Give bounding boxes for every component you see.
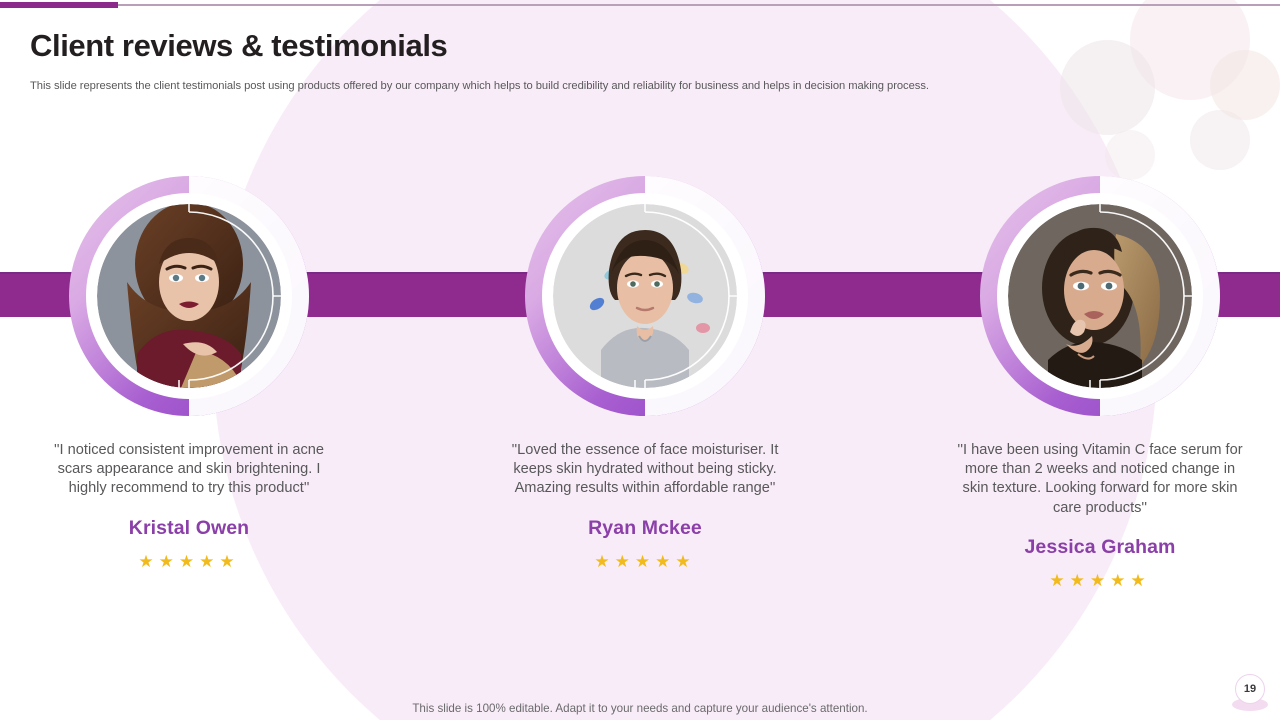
star-icon: ★ xyxy=(1110,572,1130,589)
star-icon: ★ xyxy=(1090,572,1110,589)
footer-note: This slide is 100% editable. Adapt it to… xyxy=(0,702,1280,715)
star-icon: ★ xyxy=(1049,572,1069,589)
star-icon: ★ xyxy=(1070,572,1090,589)
star-icon: ★ xyxy=(219,553,239,570)
avatar-photo xyxy=(1008,204,1192,388)
star-icon: ★ xyxy=(199,553,219,570)
testimonial-card[interactable]: ''I noticed consistent improvement in ac… xyxy=(39,176,339,570)
testimonial-author-name: Kristal Owen xyxy=(39,517,339,540)
page-number-label: 19 xyxy=(1235,674,1265,704)
star-icon: ★ xyxy=(675,553,695,570)
star-icon: ★ xyxy=(635,553,655,570)
page-number-badge: 19 xyxy=(1232,674,1268,714)
avatar-photo xyxy=(553,204,737,388)
star-icon: ★ xyxy=(138,553,158,570)
avatar xyxy=(525,176,765,416)
testimonial-author-name: Ryan Mckee xyxy=(495,517,795,540)
star-icon: ★ xyxy=(655,553,675,570)
testimonial-quote: ''I have been using Vitamin C face serum… xyxy=(950,441,1250,518)
testimonial-card[interactable]: ''I have been using Vitamin C face serum… xyxy=(950,176,1250,589)
avatar xyxy=(69,176,309,416)
star-icon: ★ xyxy=(179,553,199,570)
rating-stars: ★★★★★ xyxy=(39,553,339,570)
star-icon: ★ xyxy=(594,553,614,570)
rating-stars: ★★★★★ xyxy=(950,572,1250,589)
slide-canvas: Client reviews & testimonials This slide… xyxy=(0,0,1280,720)
testimonial-quote: ''Loved the essence of face moisturiser.… xyxy=(495,441,795,499)
testimonial-card-list: ''I noticed consistent improvement in ac… xyxy=(0,0,1280,720)
testimonial-author-name: Jessica Graham xyxy=(950,536,1250,559)
star-icon: ★ xyxy=(615,553,635,570)
testimonial-quote: ''I noticed consistent improvement in ac… xyxy=(39,441,339,499)
avatar xyxy=(980,176,1220,416)
testimonial-card[interactable]: ''Loved the essence of face moisturiser.… xyxy=(495,176,795,570)
rating-stars: ★★★★★ xyxy=(495,553,795,570)
avatar-photo xyxy=(97,204,281,388)
star-icon: ★ xyxy=(159,553,179,570)
star-icon: ★ xyxy=(1130,572,1150,589)
